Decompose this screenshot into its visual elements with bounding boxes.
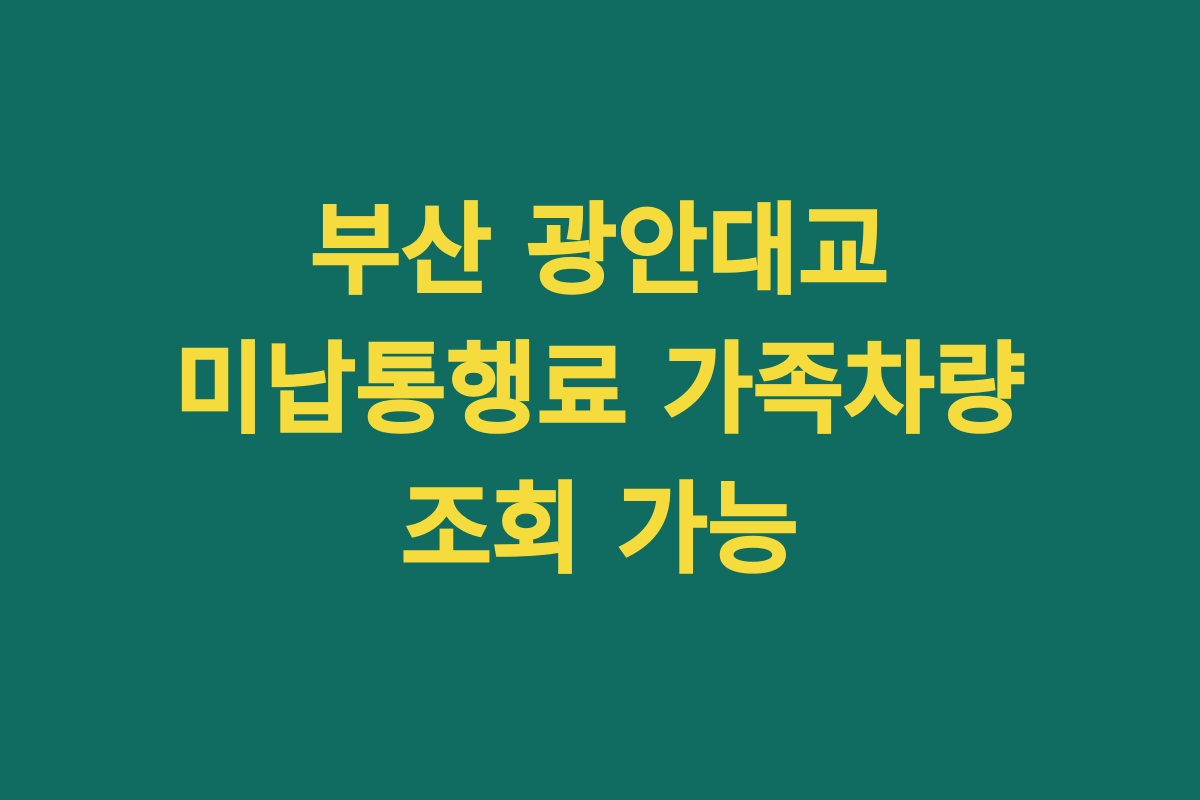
- headline-banner: 부산 광안대교 미납통행료 가족차량 조회 가능: [0, 0, 1200, 800]
- page-title: 부산 광안대교 미납통행료 가족차량 조회 가능: [85, 182, 1115, 599]
- headline-block: 부산 광안대교 미납통행료 가족차량 조회 가능: [85, 182, 1115, 599]
